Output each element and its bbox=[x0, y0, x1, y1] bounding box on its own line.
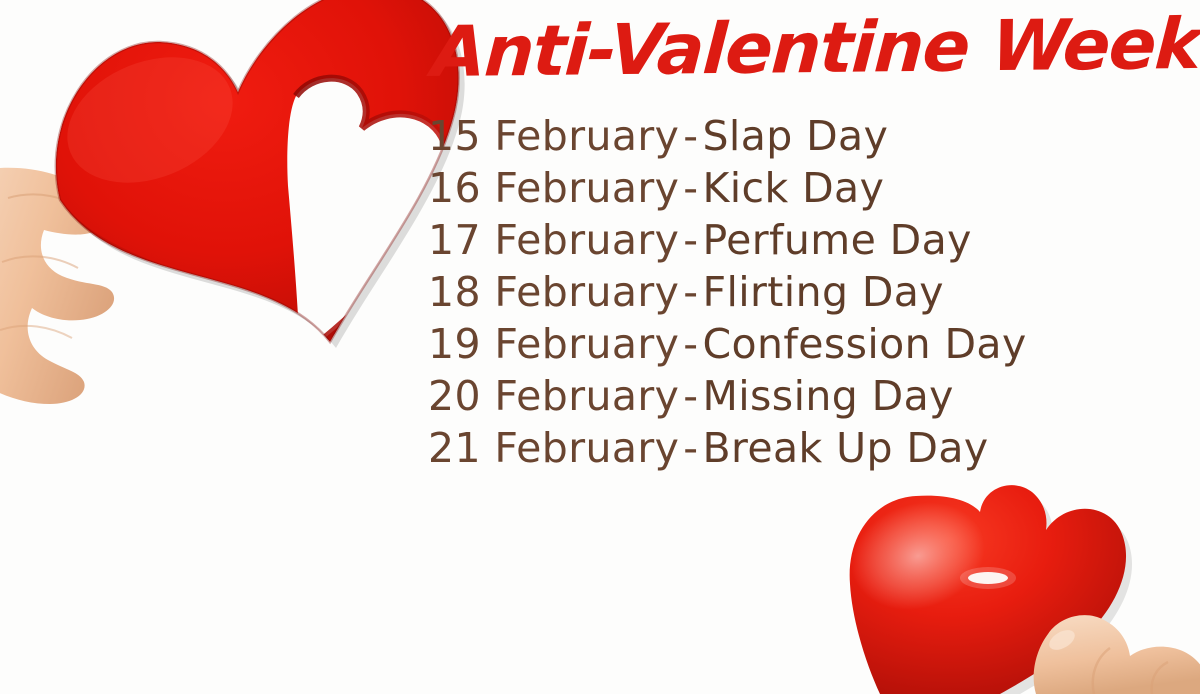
list-item: 16 February-Kick Day bbox=[428, 162, 1200, 214]
list-item-date: 21 February bbox=[428, 424, 679, 472]
list-item-separator: - bbox=[679, 424, 702, 472]
page-title: Anti-Valentine Week bbox=[429, 0, 1195, 98]
list-item: 19 February-Confession Day bbox=[428, 318, 1200, 370]
list-item-day-name: Break Up Day bbox=[702, 424, 988, 472]
list-item-separator: - bbox=[679, 164, 702, 212]
list-item-day-name: Kick Day bbox=[702, 164, 884, 212]
list-item: 17 February-Perfume Day bbox=[428, 214, 1200, 266]
list-item-date: 16 February bbox=[428, 164, 679, 212]
list-item-separator: - bbox=[679, 320, 702, 368]
list-item-day-name: Slap Day bbox=[702, 112, 888, 160]
list-item-day-name: Flirting Day bbox=[702, 268, 944, 316]
list-item-date: 19 February bbox=[428, 320, 679, 368]
list-item: 18 February-Flirting Day bbox=[428, 266, 1200, 318]
glossy-red-heart bbox=[837, 485, 1132, 694]
list-item-date: 15 February bbox=[428, 112, 679, 160]
list-item-day-name: Perfume Day bbox=[702, 216, 971, 264]
hand-holding-heart bbox=[0, 168, 114, 404]
list-item: 21 February-Break Up Day bbox=[428, 422, 1200, 474]
heart-highlight bbox=[968, 572, 1008, 584]
list-item-day-name: Confession Day bbox=[702, 320, 1026, 368]
list-item: 15 February-Slap Day bbox=[428, 110, 1200, 162]
list-item-day-name: Missing Day bbox=[702, 372, 953, 420]
list-item: 20 February-Missing Day bbox=[428, 370, 1200, 422]
list-item-separator: - bbox=[679, 268, 702, 316]
anti-valentine-day-list: 15 February-Slap Day 16 February-Kick Da… bbox=[428, 110, 1200, 474]
list-item-separator: - bbox=[679, 216, 702, 264]
torn-red-heart bbox=[49, 0, 465, 358]
list-item-separator: - bbox=[679, 372, 702, 420]
anti-valentine-week-poster: Anti-Valentine Week 15 February-Slap Day… bbox=[0, 0, 1200, 694]
hand-pinching-heart bbox=[1034, 615, 1200, 694]
list-item-date: 20 February bbox=[428, 372, 679, 420]
list-item-date: 17 February bbox=[428, 216, 679, 264]
list-item-date: 18 February bbox=[428, 268, 679, 316]
list-item-separator: - bbox=[679, 112, 702, 160]
